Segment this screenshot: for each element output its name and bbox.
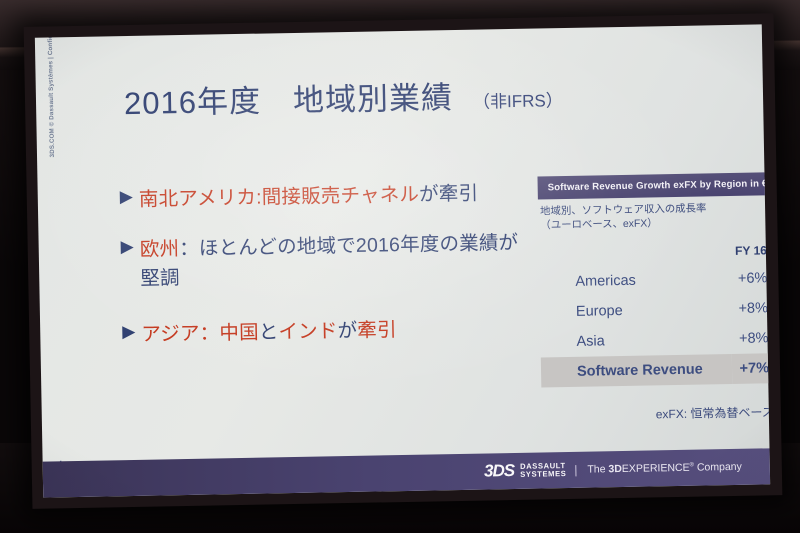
row-value: +8% xyxy=(731,293,770,324)
bullet-segment-normal: と xyxy=(259,321,279,343)
confidential-strip: 3DS.COM © Dassault Systèmes | Confidenti… xyxy=(44,24,56,157)
3ds-logo-icon: 3DS xyxy=(484,461,514,482)
revenue-growth-panel: Software Revenue Growth exFX by Region i… xyxy=(537,172,770,424)
logo-wordmark: DASSAULT SYSTEMES xyxy=(520,462,566,478)
bullet-segment-highlight: アジア：中国 xyxy=(141,321,259,345)
row-label: Europe xyxy=(540,294,732,327)
triangle-bullet-icon: ▶ xyxy=(121,236,134,257)
bullet-text: アジア：中国とインドが牽引 xyxy=(141,316,397,349)
logo-line-systemes: SYSTEMES xyxy=(520,470,566,478)
projection-screen: 2016年度 地域別業績（非IFRS） ▶ 南北アメリカ:間接販売チャネルが牽引… xyxy=(24,13,783,509)
tagline-company: Company xyxy=(694,461,742,474)
panel-footnote: exFX: 恒常為替ベース xyxy=(542,403,770,424)
bullet-segment-highlight: 牽引 xyxy=(357,319,397,342)
table-row: Europe +8% xyxy=(540,293,770,327)
row-value: +7% xyxy=(732,353,770,384)
page-title-main: 2016年度 地域別業績 xyxy=(124,80,454,121)
panel-subtitle: 地域別、ソフトウェア収入の成長率 （ユーロベース、exFX） xyxy=(538,201,770,233)
bullet-segment-highlight: インド xyxy=(278,320,338,343)
row-label: Asia xyxy=(540,324,732,357)
bullet-segment-highlight: 南北アメリカ:間接販売チャネル xyxy=(139,184,420,211)
bullet-item-asia: ▶ アジア：中国とインドが牽引 xyxy=(122,314,522,350)
bullet-item-americas: ▶ 南北アメリカ:間接販売チャネルが牽引 xyxy=(120,179,520,215)
bullet-segment-normal: が牽引 xyxy=(419,183,479,206)
bullet-segment-normal: が xyxy=(337,320,357,342)
logo-separator: | xyxy=(574,463,577,477)
bullet-segment-highlight: 欧州 xyxy=(140,238,180,261)
triangle-bullet-icon: ▶ xyxy=(122,321,135,342)
revenue-growth-table: FY 16 Americas +6% Europe +8% xyxy=(539,243,770,387)
bullet-segment-normal: ：ほとんどの地域で2016年度の業績が堅調 xyxy=(140,232,518,289)
row-value: +6% xyxy=(730,263,770,294)
panel-subtitle-line2: （ユーロベース、exFX） xyxy=(540,215,770,233)
triangle-bullet-icon: ▶ xyxy=(120,186,133,207)
logo-tagline: The 3DEXPERIENCE® Company xyxy=(587,461,742,476)
bullet-item-europe: ▶ 欧州：ほとんどの地域で2016年度の業績が堅調 xyxy=(121,229,522,293)
table-row-total: Software Revenue +7% xyxy=(541,353,770,387)
page-title-suffix: （非IFRS） xyxy=(473,91,563,112)
bullet-text: 南北アメリカ:間接販売チャネルが牽引 xyxy=(139,180,479,214)
table-row: Asia +8% xyxy=(540,323,770,357)
tagline-3d: 3D xyxy=(608,463,622,475)
screen-surface: 2016年度 地域別業績（非IFRS） ▶ 南北アメリカ:間接販売チャネルが牽引… xyxy=(35,24,770,497)
bullet-text: 欧州：ほとんどの地域で2016年度の業績が堅調 xyxy=(140,229,522,293)
row-value: +8% xyxy=(731,323,770,354)
row-label: Software Revenue xyxy=(541,354,733,387)
bullet-list: ▶ 南北アメリカ:間接販売チャネルが牽引 ▶ 欧州：ほとんどの地域で2016年度… xyxy=(120,179,523,371)
page-title: 2016年度 地域別業績（非IFRS） xyxy=(124,70,563,123)
row-label: Americas xyxy=(539,264,731,297)
dassault-systemes-logo: 3DS DASSAULT SYSTEMES | The 3DEXPERIENCE… xyxy=(484,457,742,482)
column-header-fy16: FY 16 xyxy=(730,243,770,264)
table-body: Americas +6% Europe +8% Asia +8% Softw xyxy=(539,263,770,387)
table-row: Americas +6% xyxy=(539,263,770,297)
tagline-prefix: The xyxy=(587,463,608,475)
presentation-slide: 2016年度 地域別業績（非IFRS） ▶ 南北アメリカ:間接販売チャネルが牽引… xyxy=(35,24,770,497)
tagline-experience: EXPERIENCE xyxy=(622,462,690,475)
panel-header-title: Software Revenue Growth exFX by Region i… xyxy=(537,172,770,199)
